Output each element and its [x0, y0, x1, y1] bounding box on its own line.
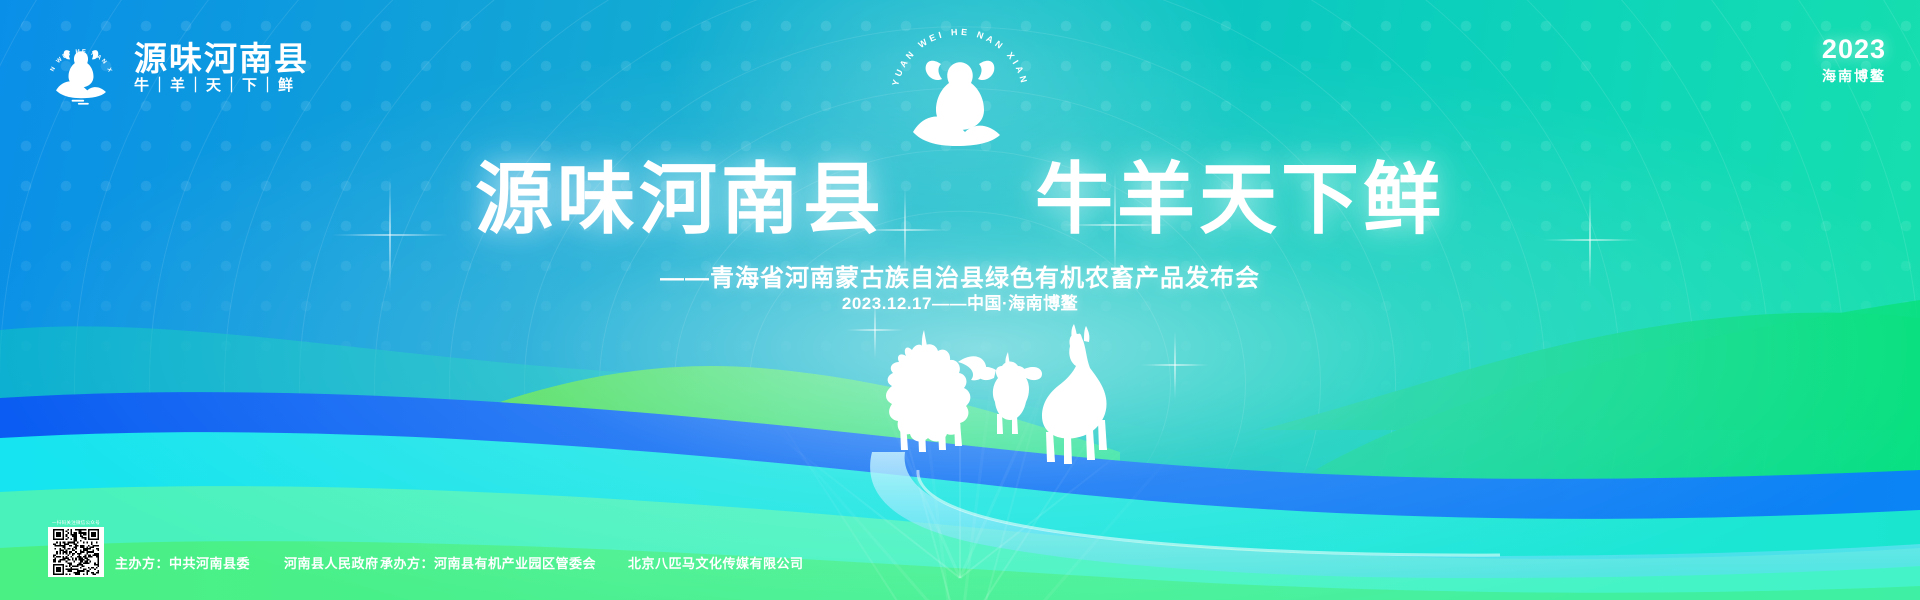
host-second: 北京八匹马文化传媒有限公司: [628, 553, 804, 572]
qr-code-image[interactable]: [48, 527, 104, 577]
organizer-credits: 主办方：中共河南县委 河南县人民政府: [115, 553, 379, 572]
footer-bar: 一扫码关注微信公众号 主办方：中共河南县委 河南县人民政府 承办方：河南县有机产…: [0, 530, 1920, 600]
poster-canvas: YUAN WEI HE NAN XIAN 源味河南县 牛｜羊｜天｜下｜鲜 202…: [0, 0, 1920, 600]
yak-silhouette: [886, 330, 986, 452]
host-credits: 承办方：河南县有机产业园区管委会 北京八匹马文化传媒有限公司: [380, 553, 804, 572]
host-label: 承办方：河南县有机产业园区管委会: [380, 553, 596, 572]
animal-silhouettes: [0, 0, 1920, 600]
goat-silhouette: [978, 352, 1042, 434]
qr-code-block[interactable]: 一扫码关注微信公众号: [48, 520, 104, 582]
organizer-second: 河南县人民政府: [284, 553, 379, 572]
horse-silhouette: [1042, 324, 1107, 464]
qr-caption: 一扫码关注微信公众号: [48, 520, 104, 526]
organizer-label: 主办方：中共河南县委: [115, 553, 250, 572]
